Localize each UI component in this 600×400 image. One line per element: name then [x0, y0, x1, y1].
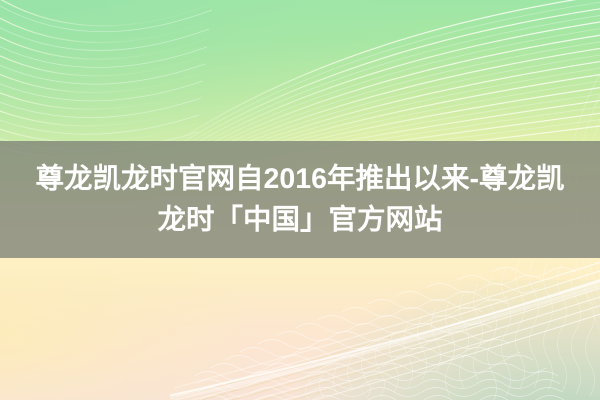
background-bottom-left-yellow-pool [0, 248, 240, 400]
page-title: 尊龙凯龙时官网自2016年推出以来-尊龙凯龙时「中国」官方网站 [22, 159, 578, 240]
background-bottom-right-green-tint [300, 280, 600, 400]
headline-banner-inner: 尊龙凯龙时官网自2016年推出以来-尊龙凯龙时「中国」官方网站 [0, 159, 600, 240]
headline-banner: 尊龙凯龙时官网自2016年推出以来-尊龙凯龙时「中国」官方网站 [0, 141, 600, 258]
banner-image: 尊龙凯龙时官网自2016年推出以来-尊龙凯龙时「中国」官方网站 [0, 0, 600, 400]
